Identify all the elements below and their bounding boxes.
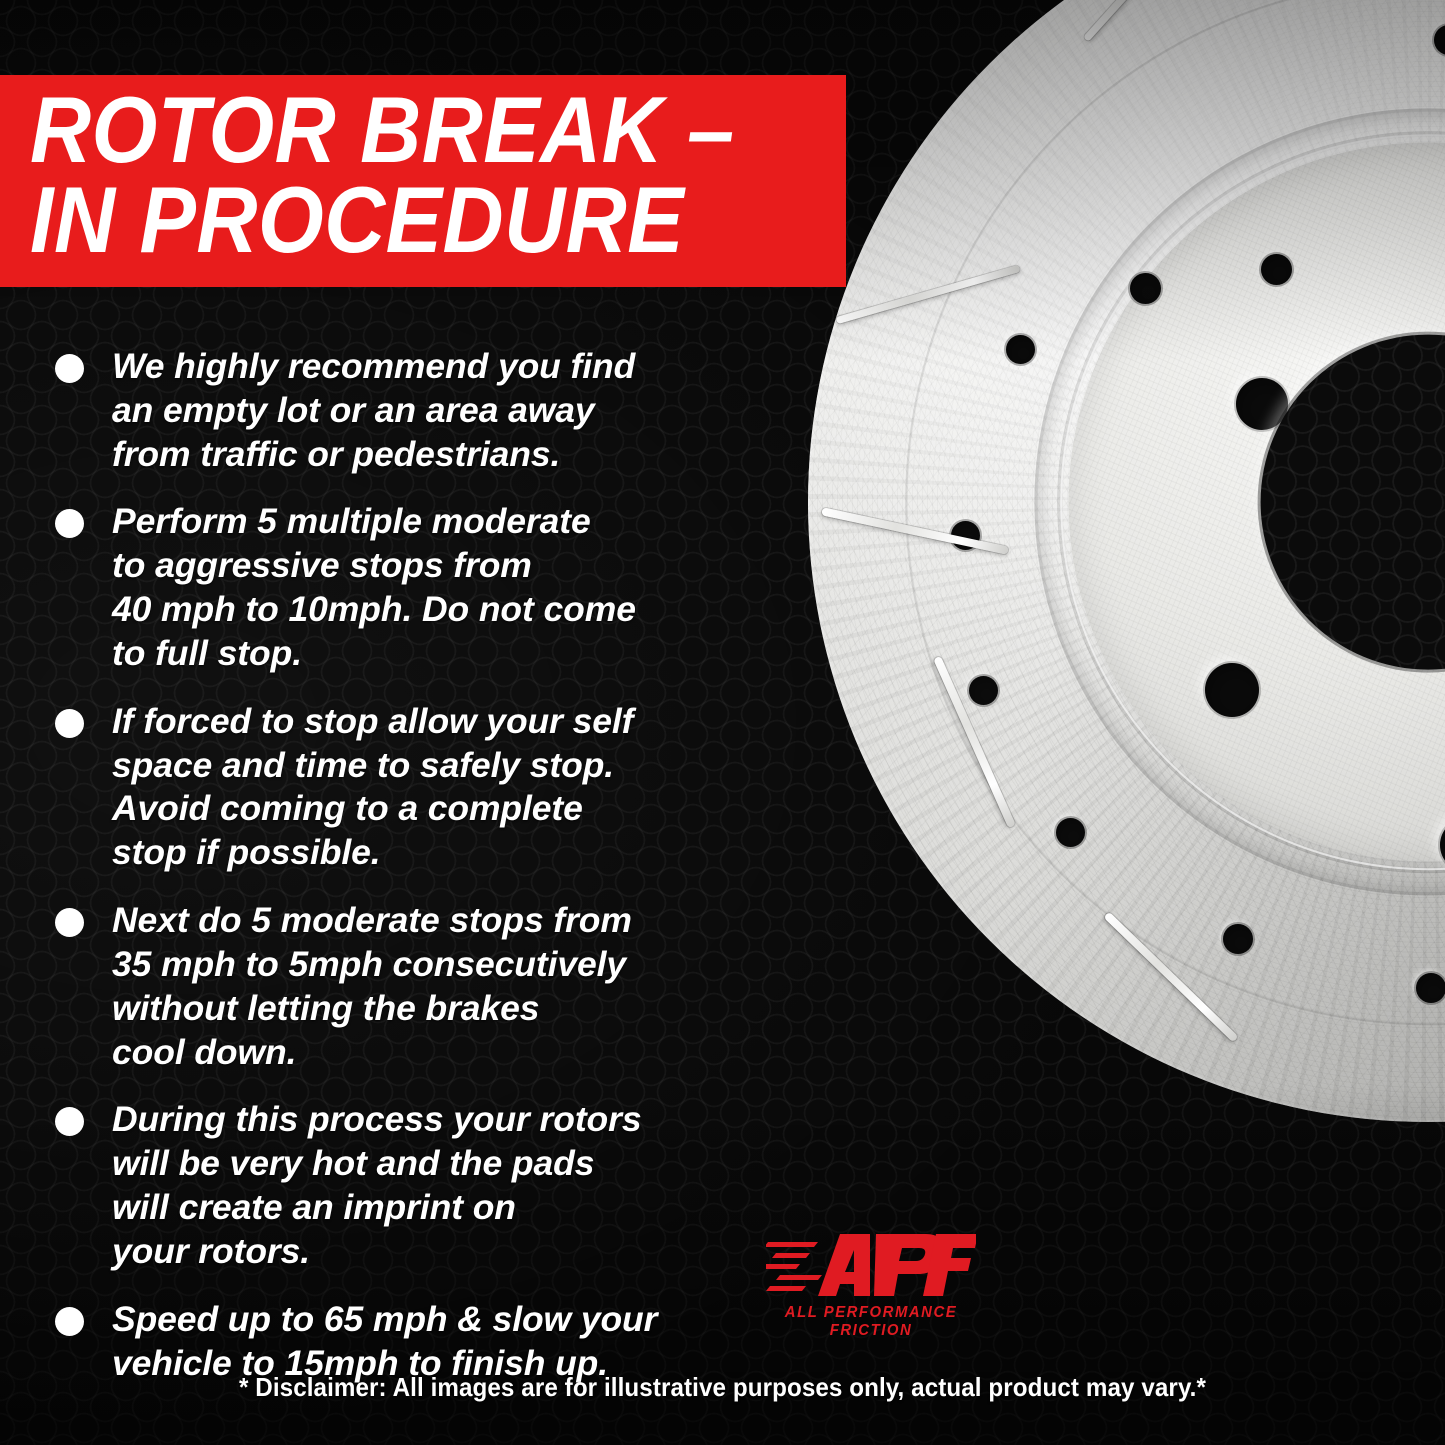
bullet-dot-icon [55, 509, 84, 538]
bullet-dot-icon [55, 1307, 84, 1336]
title-line-1: ROTOR BREAK – [30, 85, 764, 175]
list-item: We highly recommend you find an empty lo… [0, 345, 790, 476]
apf-tagline: ALL PERFORMANCE FRICTION [770, 1304, 972, 1340]
bullet-next-five-moderate: Next do 5 moderate stops from 35 mph to … [112, 899, 632, 1074]
disclaimer-text: * Disclaimer: All images are for illustr… [51, 1372, 1395, 1403]
bullet-if-forced-to-stop: If forced to stop allow your self space … [112, 700, 633, 875]
bullet-dot-icon [55, 908, 84, 937]
list-item: If forced to stop allow your self space … [0, 700, 790, 875]
bullet-dot-icon [55, 1107, 84, 1136]
poster-canvas: ROTOR BREAK – IN PROCEDURE We highly rec… [0, 0, 1445, 1445]
apf-logo: ALL PERFORMANCE FRICTION [766, 1228, 976, 1340]
list-item: Next do 5 moderate stops from 35 mph to … [0, 899, 790, 1074]
bullet-dot-icon [55, 709, 84, 738]
procedure-steps-list: We highly recommend you find an empty lo… [0, 345, 790, 1409]
title-line-2: IN PROCEDURE [30, 175, 764, 265]
bullet-five-moderate-stops: Perform 5 multiple moderate to aggressiv… [112, 500, 636, 675]
bullet-find-empty-lot: We highly recommend you find an empty lo… [112, 345, 635, 476]
bullet-rotors-hot: During this process your rotors will be … [112, 1098, 642, 1273]
bullet-dot-icon [55, 354, 84, 383]
apf-wordmark-icon [766, 1228, 976, 1302]
list-item: Perform 5 multiple moderate to aggressiv… [0, 500, 790, 675]
title-banner: ROTOR BREAK – IN PROCEDURE [0, 75, 846, 287]
list-item: During this process your rotors will be … [0, 1098, 790, 1273]
